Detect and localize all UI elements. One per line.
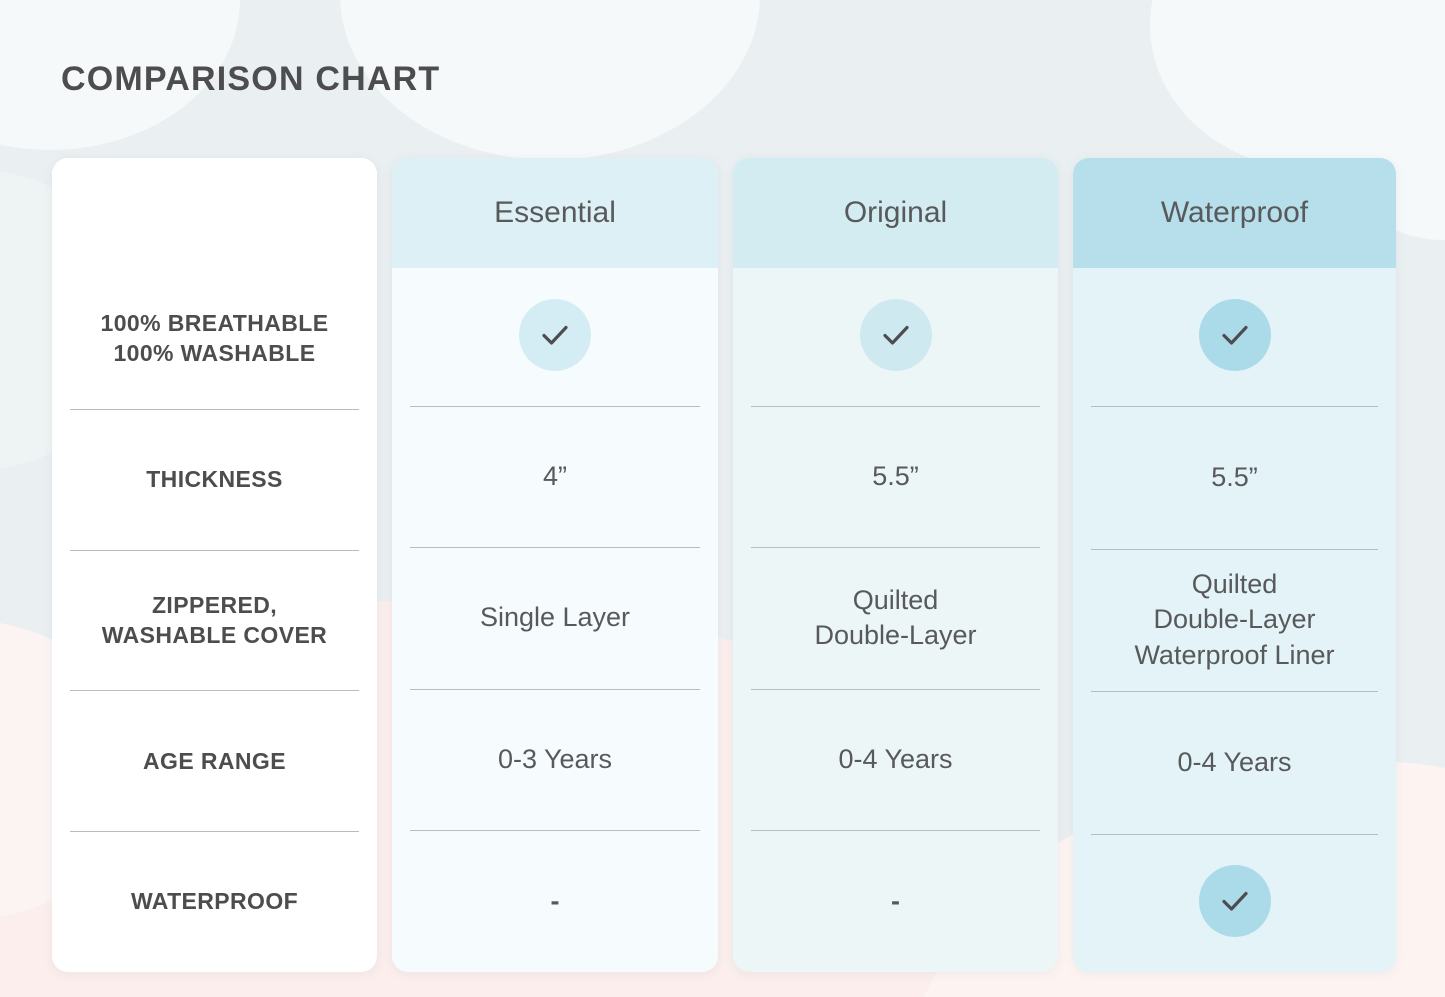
page-title: COMPARISON CHART [61,60,440,99]
cell-waterproof-cover: Quilted Double-Layer Waterproof Liner [1073,549,1396,691]
cell-original-thickness: 5.5” [733,406,1058,548]
row-label-thickness: THICKNESS [52,409,377,550]
row-label-age-range-text: AGE RANGE [143,746,286,776]
row-label-waterproof-text: WATERPROOF [131,886,298,916]
cell-essential-waterproof: - [392,830,718,972]
row-label-cover-line1: ZIPPERED, [102,590,327,620]
cell-original-cover: Quilted Double-Layer [733,547,1058,689]
cell-waterproof-cover-line1: Quilted [1134,567,1334,602]
cell-waterproof-breathable [1073,268,1396,406]
check-icon [1199,865,1271,937]
row-label-breathable-line1: 100% BREATHABLE [101,308,329,338]
cell-original-breathable [733,268,1058,406]
cell-waterproof-thickness-text: 5.5” [1211,460,1258,495]
cell-waterproof-cover-line3: Waterproof Liner [1134,638,1334,673]
column-waterproof-body: 5.5” Quilted Double-Layer Waterproof Lin… [1073,268,1396,972]
column-essential[interactable]: Essential 4” Single Layer 0-3 Yea [392,158,718,972]
cell-original-age-range: 0-4 Years [733,689,1058,831]
row-label-breathable-line2: 100% WASHABLE [101,338,329,368]
row-label-cover-line2: WASHABLE COVER [102,620,327,650]
comparison-chart-page: COMPARISON CHART 100% BREATHABLE 100% WA… [0,0,1445,997]
cell-waterproof-waterproof [1073,834,1396,972]
row-label-waterproof: WATERPROOF [52,831,377,972]
cell-original-thickness-text: 5.5” [872,459,919,494]
cell-waterproof-age-range: 0-4 Years [1073,691,1396,833]
row-labels-body: 100% BREATHABLE 100% WASHABLE THICKNESS … [52,268,377,972]
cell-essential-waterproof-text: - [551,886,560,917]
row-label-thickness-text: THICKNESS [146,464,283,494]
cell-waterproof-age-range-text: 0-4 Years [1177,745,1291,780]
cell-essential-thickness-text: 4” [543,459,567,494]
column-header-waterproof: Waterproof [1073,158,1396,268]
column-essential-body: 4” Single Layer 0-3 Years - [392,268,718,972]
row-label-breathable: 100% BREATHABLE 100% WASHABLE [52,268,377,409]
column-header-essential: Essential [392,158,718,268]
comparison-table: 100% BREATHABLE 100% WASHABLE THICKNESS … [52,158,1396,972]
cell-essential-cover-text: Single Layer [480,600,630,635]
column-row-labels: 100% BREATHABLE 100% WASHABLE THICKNESS … [52,158,377,972]
cell-essential-age-range-text: 0-3 Years [498,742,612,777]
check-icon [519,299,591,371]
check-icon [1199,299,1271,371]
column-original-body: 5.5” Quilted Double-Layer 0-4 Years - [733,268,1058,972]
column-header-original: Original [733,158,1058,268]
cell-essential-breathable [392,268,718,406]
check-icon [860,299,932,371]
cell-original-waterproof-text: - [891,886,900,917]
column-waterproof[interactable]: Waterproof 5.5” Quilted Double-Layer [1073,158,1396,972]
row-labels-header [52,158,377,268]
cell-waterproof-thickness: 5.5” [1073,406,1396,548]
cell-essential-thickness: 4” [392,406,718,548]
cell-original-waterproof: - [733,830,1058,972]
cell-essential-cover: Single Layer [392,547,718,689]
cell-original-cover-line2: Double-Layer [814,618,976,653]
cell-essential-age-range: 0-3 Years [392,689,718,831]
cell-original-cover-line1: Quilted [814,583,976,618]
cloud-shape-top-right-a [1150,0,1445,170]
row-label-age-range: AGE RANGE [52,690,377,831]
cell-original-age-range-text: 0-4 Years [838,742,952,777]
cell-waterproof-cover-line2: Double-Layer [1134,602,1334,637]
row-label-cover: ZIPPERED, WASHABLE COVER [52,550,377,691]
column-original[interactable]: Original 5.5” Quilted Double-Layer [733,158,1058,972]
